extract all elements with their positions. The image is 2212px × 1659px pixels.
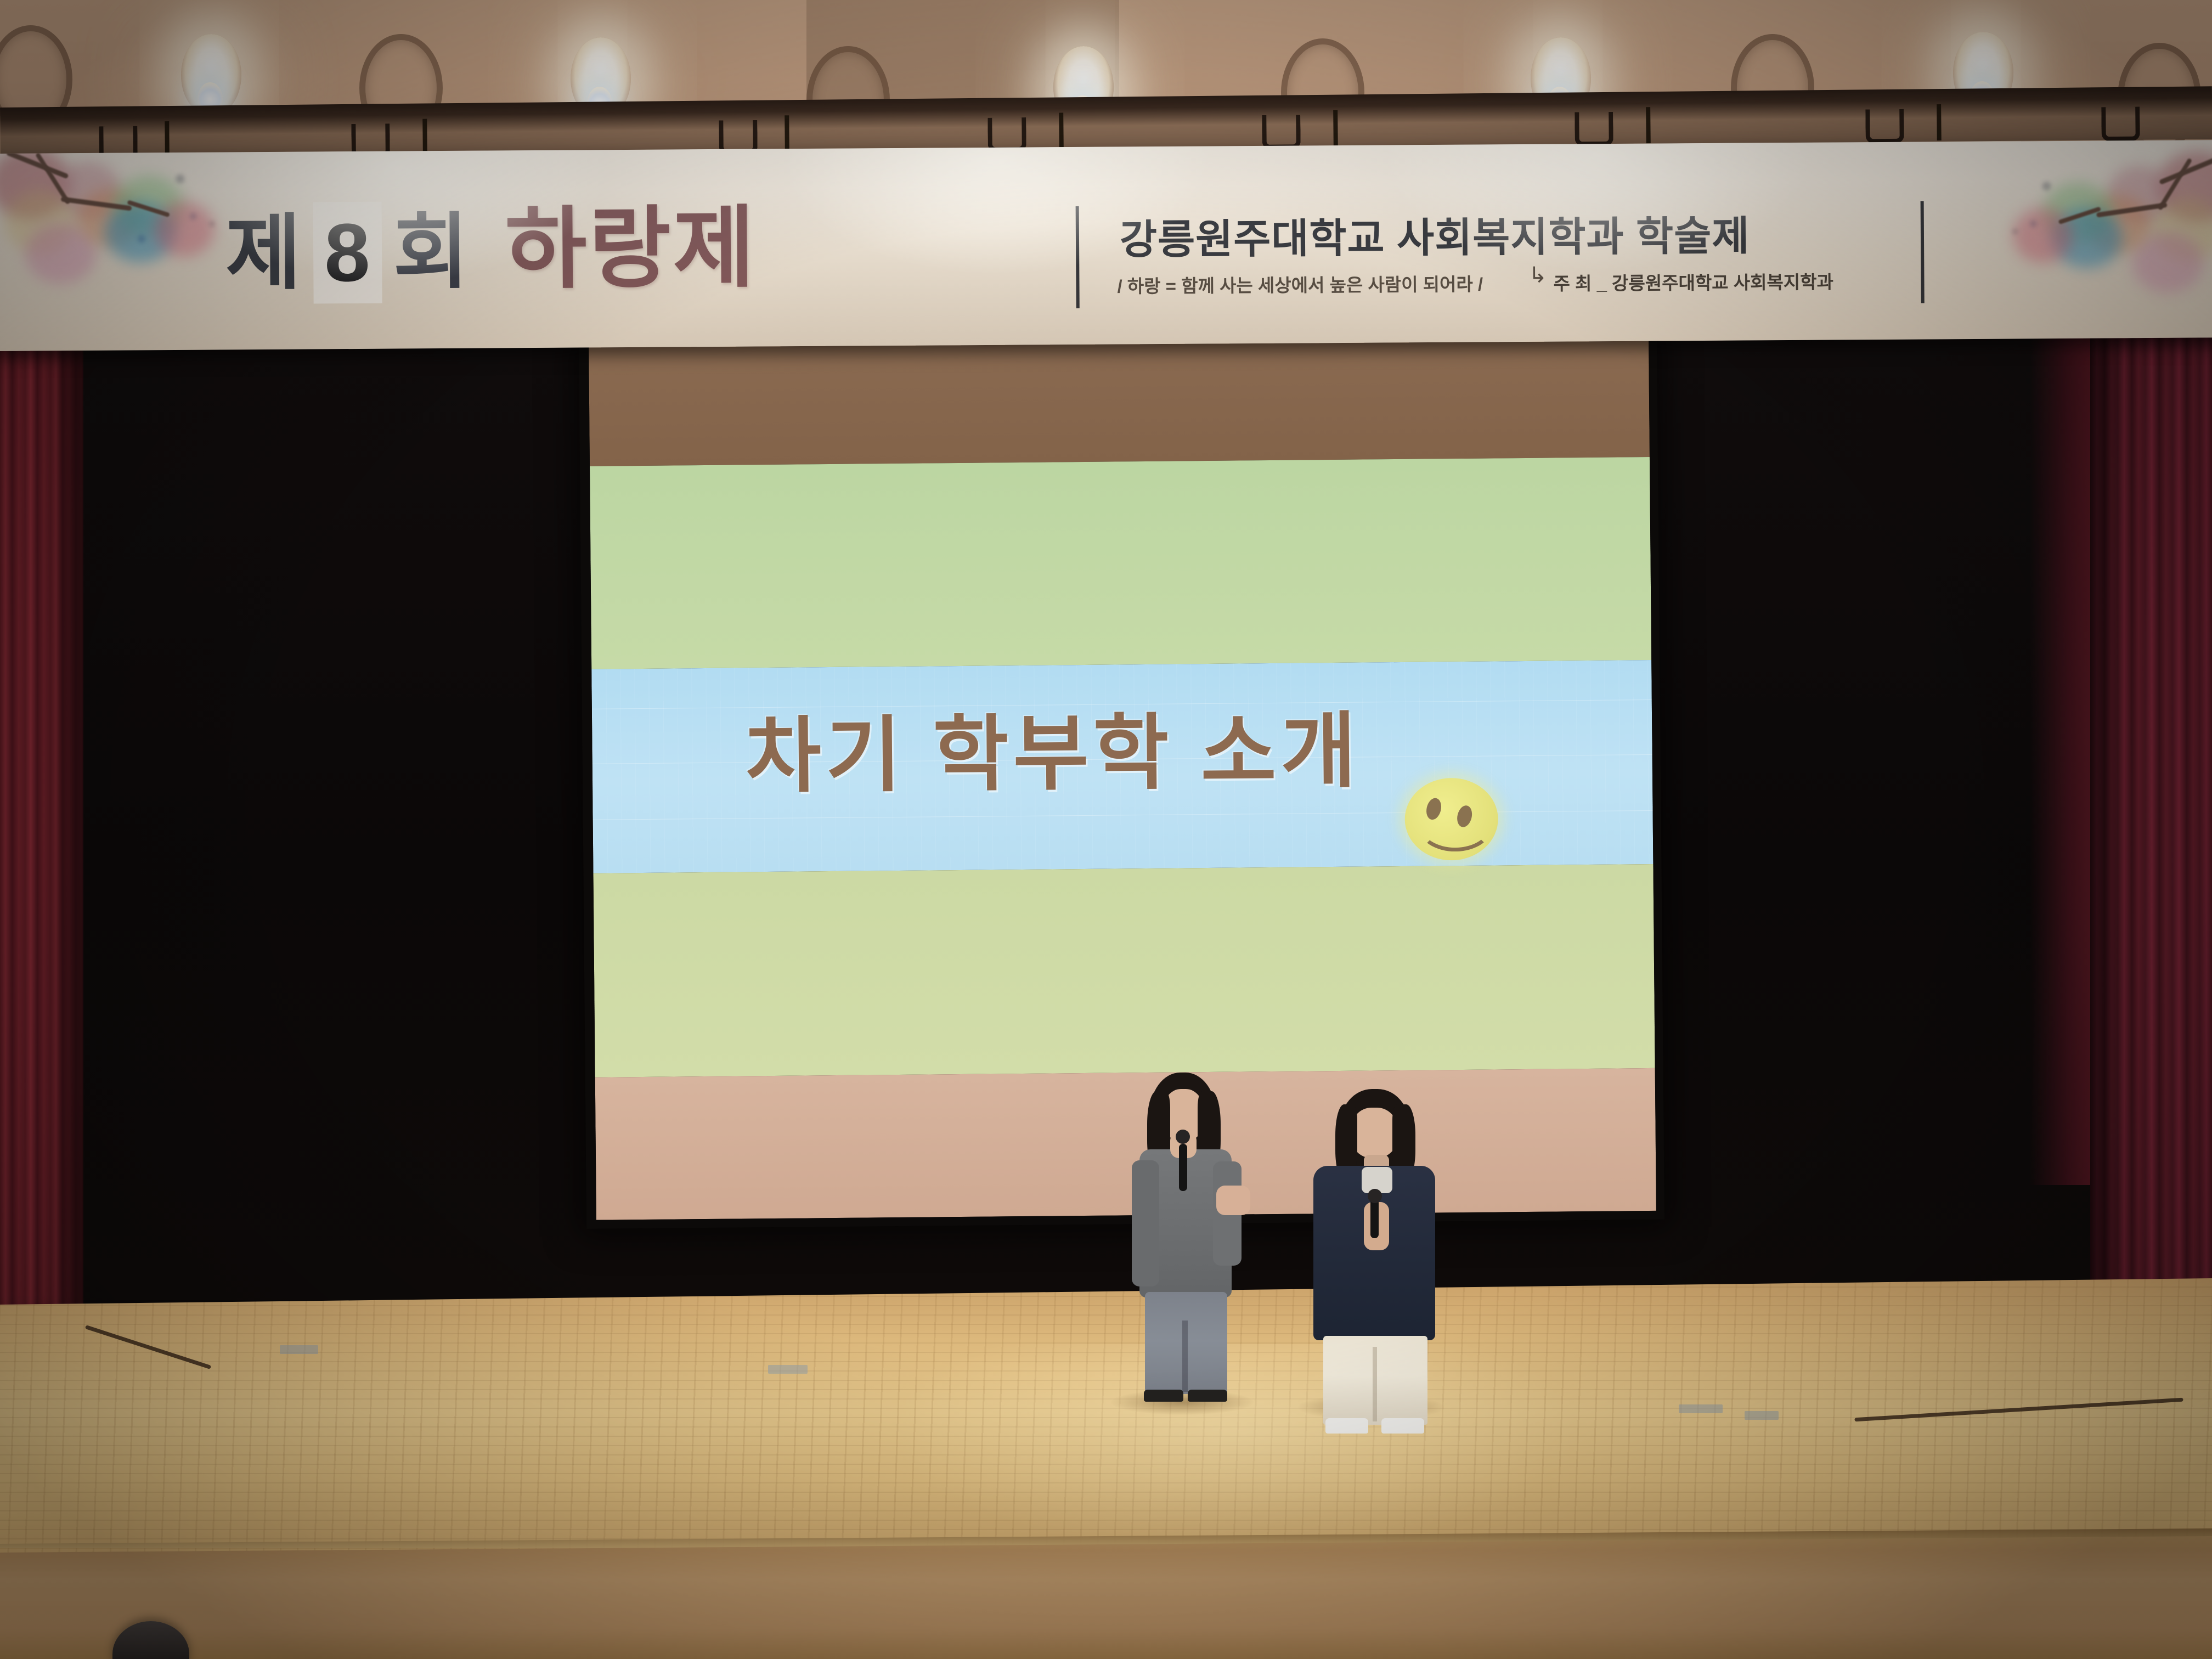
presenter-arm-left (1132, 1160, 1159, 1286)
presenter-shoe-right (1188, 1390, 1227, 1402)
presenter-leg-gap (1182, 1321, 1188, 1392)
microphone-head-icon (1368, 1189, 1382, 1203)
banner-host: 주 최 _ 강릉원주대학교 사회복지학과 (1553, 268, 1833, 296)
truss-rod-icon (1646, 107, 1651, 143)
stage-apron-front (0, 1536, 2212, 1659)
slide-band-green-upper (590, 457, 1651, 669)
slide-band-tan-bottom (595, 1068, 1656, 1220)
stage-floor-marker (1679, 1404, 1723, 1413)
stage-floor-marker (1745, 1411, 1779, 1420)
auditorium-stage-photo: 차기 학부학 소개 (0, 0, 2212, 1659)
truss-clamp-icon (1865, 109, 1904, 144)
banner-title: 제 8 회 하랑제 (225, 176, 757, 308)
presenter-pants-seam (1373, 1347, 1377, 1421)
slide-band-brown-top (589, 337, 1650, 466)
presenter-shoe-left (1325, 1418, 1368, 1434)
stage-curtain-right-fold (2030, 329, 2096, 1185)
stage-curtain-right (2090, 329, 2212, 1350)
stage-floor-marker (768, 1365, 808, 1374)
banner-tagline: / 하랑 = 함께 사는 세상에서 높은 사람이 되어라 / (1117, 269, 1483, 298)
truss-clamp-icon (2101, 107, 2140, 142)
truss-rod-icon (422, 119, 427, 155)
slide-band-green-lower (593, 864, 1655, 1077)
smiley-mouth-icon (1418, 800, 1493, 851)
slide-title: 차기 학부학 소개 (592, 683, 1515, 810)
blossom-decoration-left-icon (0, 141, 259, 329)
banner-subtitle: 강릉원주대학교 사회복지학과 학술제 (1120, 203, 1750, 266)
event-banner: 제 8 회 하랑제 강릉원주대학교 사회복지학과 학술제 / 하랑 = 함께 사… (0, 140, 2212, 351)
truss-rod-icon (1059, 112, 1064, 149)
presenter-face (1351, 1108, 1398, 1158)
truss-clamp-icon (1575, 112, 1613, 146)
banner-festival-name: 하랑제 (505, 176, 758, 306)
stage-floor-marker (280, 1345, 318, 1354)
banner-divider-right (1921, 201, 1925, 303)
banner-divider-left (1076, 206, 1080, 308)
presenter-hand-gesture (1216, 1186, 1250, 1215)
microphone[interactable] (1370, 1199, 1379, 1238)
smiley-face-icon (1404, 777, 1498, 860)
blossom-decoration-right-icon (1970, 145, 2212, 334)
projection-screen: 차기 학부학 소개 (589, 337, 1656, 1220)
banner-suffix: 회 (393, 185, 470, 305)
presenter-left (1127, 1073, 1248, 1413)
stage-curtain-left (0, 336, 83, 1323)
presenter-shoe-right (1381, 1418, 1424, 1434)
microphone-head-icon (1176, 1130, 1190, 1144)
truss-rod-icon (1937, 104, 1942, 140)
presenter-shoe-left (1144, 1390, 1183, 1402)
truss-clamp-icon (988, 117, 1026, 152)
truss-rod-icon (785, 115, 789, 151)
banner-host-mark-icon: ↳ (1528, 263, 1547, 288)
banner-edition: 8 (315, 204, 381, 302)
microphone[interactable] (1179, 1144, 1187, 1191)
truss-clamp-icon (1262, 115, 1301, 149)
presenter-right (1311, 1089, 1437, 1418)
banner-prefix: 제 (225, 187, 302, 306)
truss-rod-icon (1333, 110, 1338, 146)
projection-screen-frame: 차기 학부학 소개 (579, 331, 1664, 1229)
